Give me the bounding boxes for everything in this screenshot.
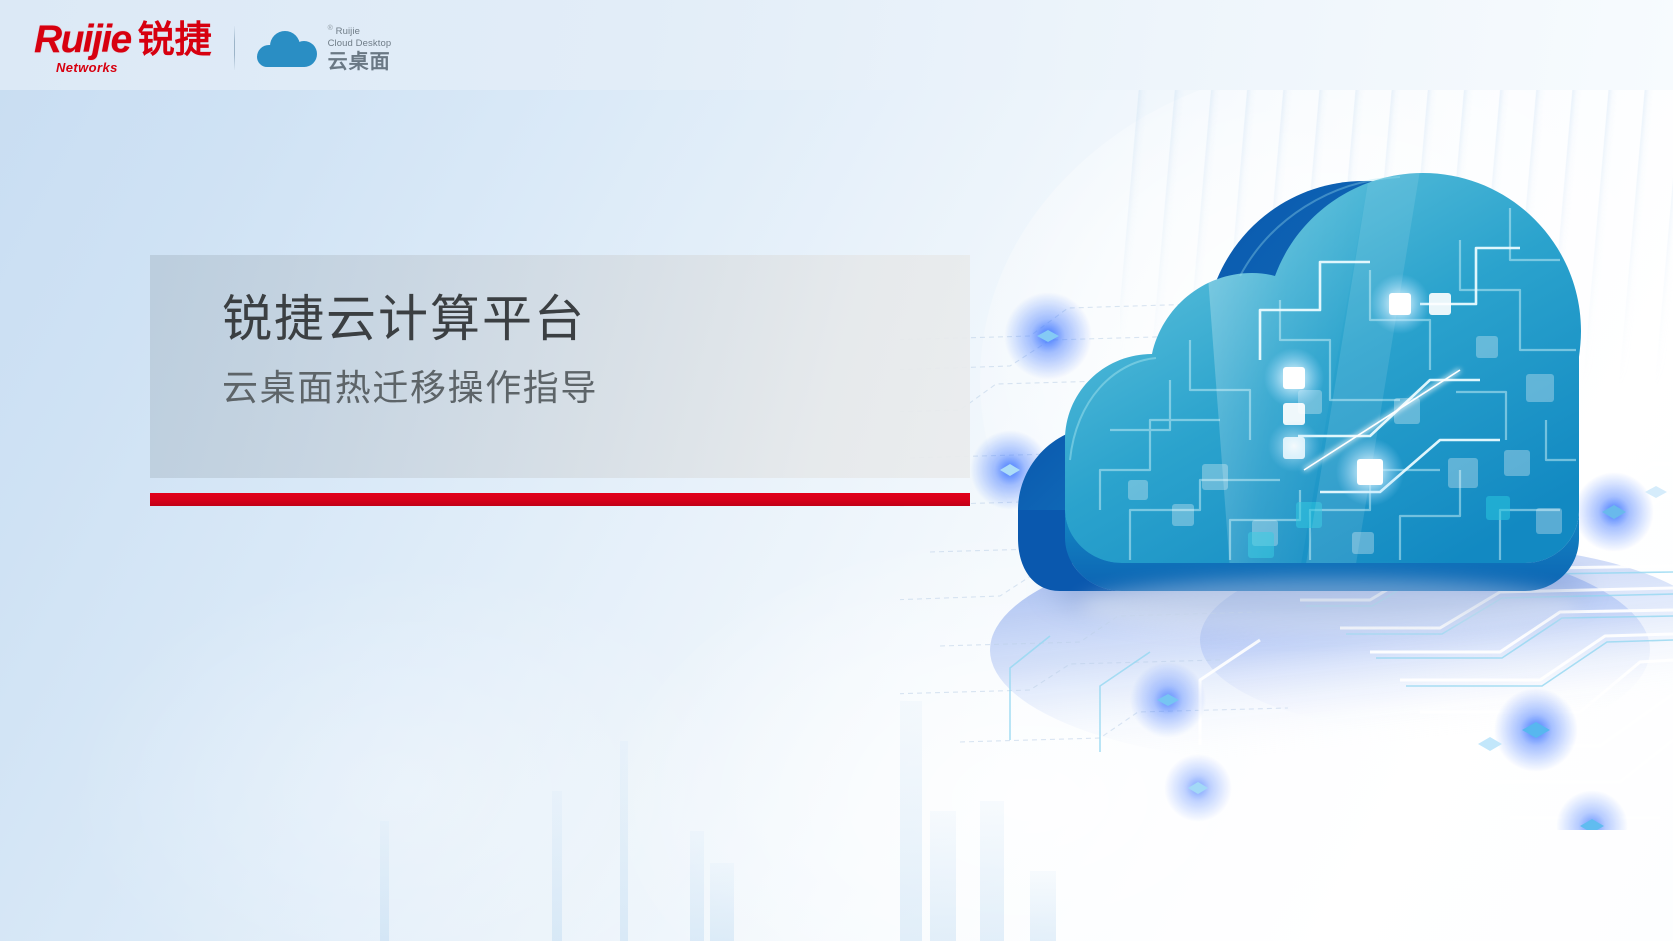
cloud-icon	[257, 29, 319, 67]
ruijie-wordmark: Ruijie 锐捷	[34, 20, 212, 59]
city-bar	[1030, 871, 1056, 941]
light-bloom-center	[620, 540, 1440, 941]
product-name-en: Ruijie	[336, 27, 360, 38]
page-title: 锐捷云计算平台	[222, 288, 586, 350]
product-english-line2: Cloud Desktop	[328, 38, 392, 49]
cloud-desktop-logo: ® Ruijie Cloud Desktop 云桌面	[257, 23, 392, 71]
city-bar	[710, 863, 734, 941]
city-bar	[980, 801, 1004, 941]
logo-group: Ruijie 锐捷 Networks ® Ruijie	[34, 20, 391, 75]
cloud-computing-illustration	[900, 40, 1673, 830]
city-bar	[930, 811, 956, 941]
city-bar	[620, 741, 628, 941]
light-bloom-left	[60, 560, 760, 941]
product-english-line1: ® Ruijie	[328, 23, 392, 37]
city-bar	[380, 821, 389, 941]
logo-divider	[234, 26, 235, 70]
page-subtitle: 云桌面热迁移操作指导	[222, 365, 598, 413]
ruijie-chinese-text: 锐捷	[138, 21, 212, 58]
cloud-desktop-text: ® Ruijie Cloud Desktop 云桌面	[328, 23, 392, 71]
title-panel: 锐捷云计算平台 云桌面热迁移操作指导	[150, 255, 970, 478]
ruijie-tagline: Networks	[56, 60, 118, 75]
light-bloom-right	[980, 60, 1673, 700]
red-accent-bar	[150, 493, 970, 506]
city-bar	[690, 831, 704, 941]
ruijie-latin-text: Ruijie	[34, 20, 131, 59]
city-bar	[900, 701, 922, 941]
product-chinese: 云桌面	[328, 50, 392, 72]
registered-mark: ®	[328, 25, 333, 32]
ruijie-brand-logo: Ruijie 锐捷 Networks	[34, 20, 212, 75]
slide-root: Ruijie 锐捷 Networks ® Ruijie	[0, 0, 1673, 941]
header-bar: Ruijie 锐捷 Networks ® Ruijie	[0, 0, 1673, 90]
city-bar	[552, 791, 562, 941]
